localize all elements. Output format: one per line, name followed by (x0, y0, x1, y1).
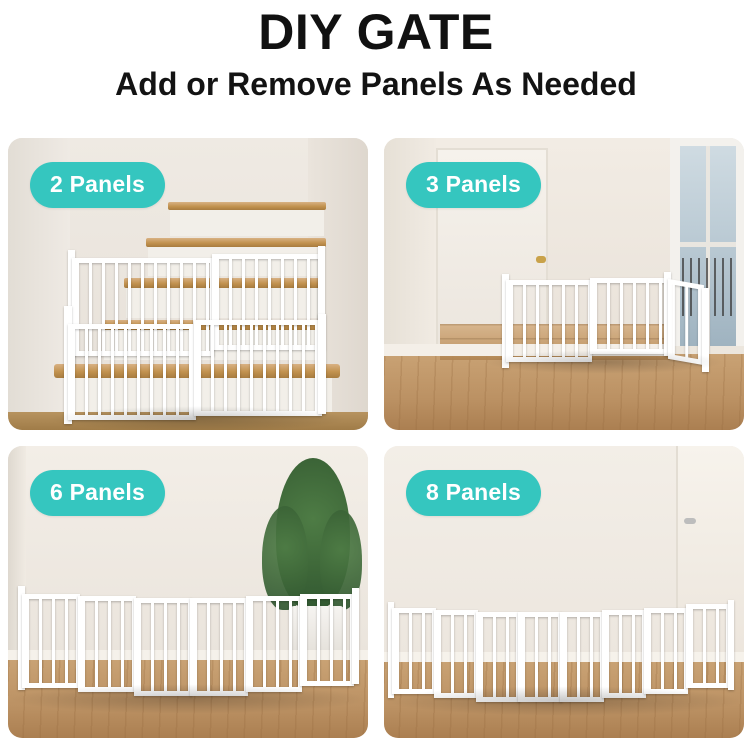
gate-panel (78, 596, 136, 692)
badge-6-panels: 6 Panels (30, 470, 165, 516)
gate-panel (134, 598, 192, 696)
stair-tread (146, 238, 326, 247)
photo-card-2-panels: 2 Panels (8, 138, 368, 430)
badge-2-panels: 2 Panels (30, 162, 165, 208)
gate-panel (686, 604, 730, 688)
image-grid: 2 Panels (8, 138, 744, 738)
stair-tread (168, 202, 326, 210)
floor-shadow (384, 686, 744, 716)
photo-card-6-panels: 6 Panels (8, 446, 368, 738)
badge-8-panels: 8 Panels (406, 470, 541, 516)
gate-panel (194, 320, 322, 416)
gate-panel (602, 610, 646, 698)
header: DIY GATE Add or Remove Panels As Needed (0, 0, 752, 132)
product-infographic: DIY GATE Add or Remove Panels As Needed (0, 0, 752, 747)
page-subtitle: Add or Remove Panels As Needed (115, 66, 637, 103)
gate-panel (644, 608, 688, 694)
gate-panel (590, 278, 668, 354)
gate-panel (190, 598, 248, 696)
gate-panel (22, 594, 80, 688)
page-title: DIY GATE (258, 4, 494, 60)
gate-post (318, 314, 326, 414)
badge-3-panels: 3 Panels (406, 162, 541, 208)
gate-panel (246, 596, 302, 692)
gate-panel (300, 594, 354, 686)
photo-card-3-panels: 3 Panels (384, 138, 744, 430)
floor-shadow (484, 350, 724, 374)
gate-panel (392, 608, 436, 694)
floor-shadow (48, 406, 348, 430)
gate-panel (434, 610, 478, 698)
floor-shadow (8, 684, 368, 714)
stair-riser (170, 208, 324, 236)
gate-post (728, 600, 734, 690)
gate-post (352, 588, 359, 684)
photo-card-8-panels: 8 Panels (384, 446, 744, 738)
door-handle (536, 256, 546, 263)
door-handle (684, 518, 696, 524)
